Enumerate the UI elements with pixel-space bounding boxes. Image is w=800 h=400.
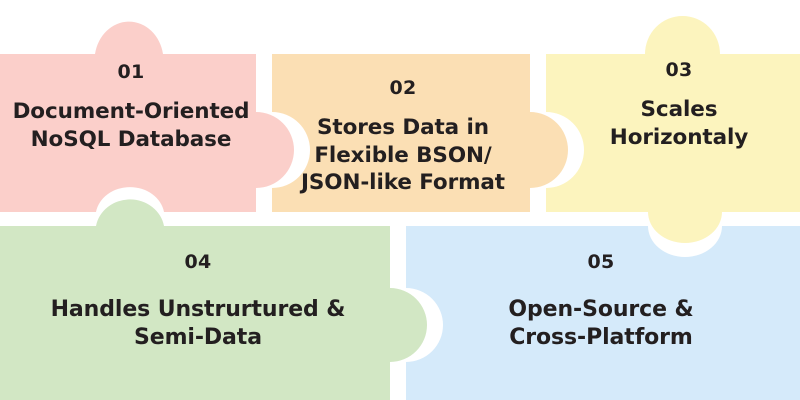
piece-04-label-line-1: Handles Unstrurtured & [8,296,388,324]
piece-05-text-block: 05 Open-Source & Cross-Platform [410,250,792,353]
piece-03-label: Scales Horizontaly [560,96,798,151]
piece-05-label: Open-Source & Cross-Platform [410,296,792,352]
piece-03-label-line-1: Scales [560,96,798,124]
piece-05-number: 05 [410,250,792,274]
piece-05-label-line-2: Cross-Platform [410,324,792,352]
piece-01-number: 01 [6,60,256,84]
piece-01-text-block: 01 Document-Oriented NoSQL Database [6,60,256,153]
piece-04-label: Handles Unstrurtured & Semi-Data [8,296,388,352]
piece-01-label-line-1: Document-Oriented [6,98,256,126]
piece-02-text-block: 02 Stores Data in Flexible BSON/ JSON-li… [283,76,523,197]
piece-04-number: 04 [8,250,388,274]
piece-02-number: 02 [283,76,523,100]
piece-03-number: 03 [560,58,798,82]
puzzle-infographic: 01 Document-Oriented NoSQL Database 02 S… [0,0,800,400]
piece-02-label-line-1: Stores Data in [283,114,523,142]
piece-01-label: Document-Oriented NoSQL Database [6,98,256,153]
piece-03-text-block: 03 Scales Horizontaly [560,58,798,151]
piece-05-label-line-1: Open-Source & [410,296,792,324]
piece-03-label-line-2: Horizontaly [560,124,798,152]
piece-04-text-block: 04 Handles Unstrurtured & Semi-Data [8,250,388,353]
piece-02-label-line-3: JSON-like Format [283,169,523,197]
piece-02-label: Stores Data in Flexible BSON/ JSON-like … [283,114,523,197]
piece-01-label-line-2: NoSQL Database [6,126,256,154]
piece-02-label-line-2: Flexible BSON/ [283,142,523,170]
piece-04-label-line-2: Semi-Data [8,324,388,352]
